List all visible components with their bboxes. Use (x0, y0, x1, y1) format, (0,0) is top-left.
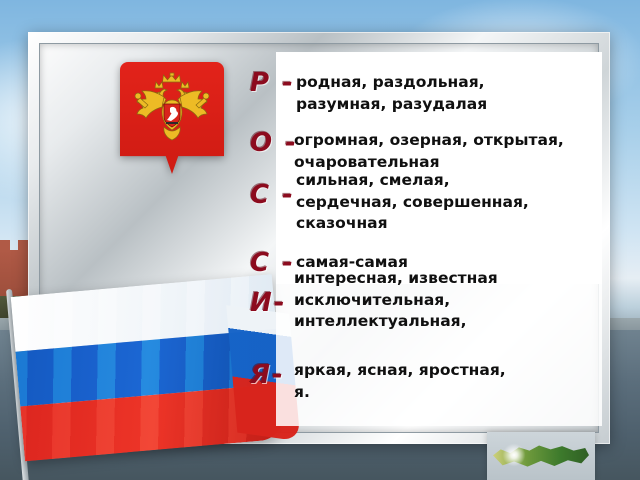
acrostic-row-o: О - огромная, озерная, открытая,очароват… (250, 130, 564, 173)
acrostic-words-o: огромная, озерная, открытая,очаровательн… (294, 130, 564, 173)
acrostic-row-i: И- интересная, известнаяисключительная,и… (250, 290, 498, 333)
map-of-russia (487, 432, 595, 480)
acrostic-words-i: интересная, известнаяисключительная,инте… (294, 268, 498, 333)
acrostic-list: Р - родная, раздольная,разумная, разудал… (250, 52, 616, 432)
st-george-shield (164, 104, 180, 127)
slide-canvas: Р - родная, раздольная,разумная, разудал… (0, 0, 640, 480)
coat-of-arms-of-russia (120, 62, 224, 174)
acrostic-words-r: родная, раздольная,разумная, разудалая (296, 70, 487, 115)
map-glint (501, 442, 527, 468)
acrostic-row-s1: С - сильная, смелая,сердечная, совершенн… (250, 182, 529, 235)
acrostic-letter-s1: С - (250, 182, 296, 208)
acrostic-letter-ya: Я- (250, 362, 294, 388)
acrostic-letter-i: И- (250, 290, 294, 316)
acrostic-words-s1: сильная, смелая,сердечная, совершенная,с… (296, 170, 529, 235)
acrostic-letter-o: О - (250, 130, 294, 156)
double-headed-eagle-icon (130, 72, 214, 146)
acrostic-row-r: Р - родная, раздольная,разумная, разудал… (250, 70, 487, 115)
acrostic-words-ya: яркая, ясная, яростная,я. (294, 360, 506, 403)
acrostic-letter-s2: С - (250, 250, 296, 276)
acrostic-row-ya: Я- яркая, ясная, яростная,я. (250, 362, 506, 403)
acrostic-letter-r: Р - (250, 70, 296, 96)
